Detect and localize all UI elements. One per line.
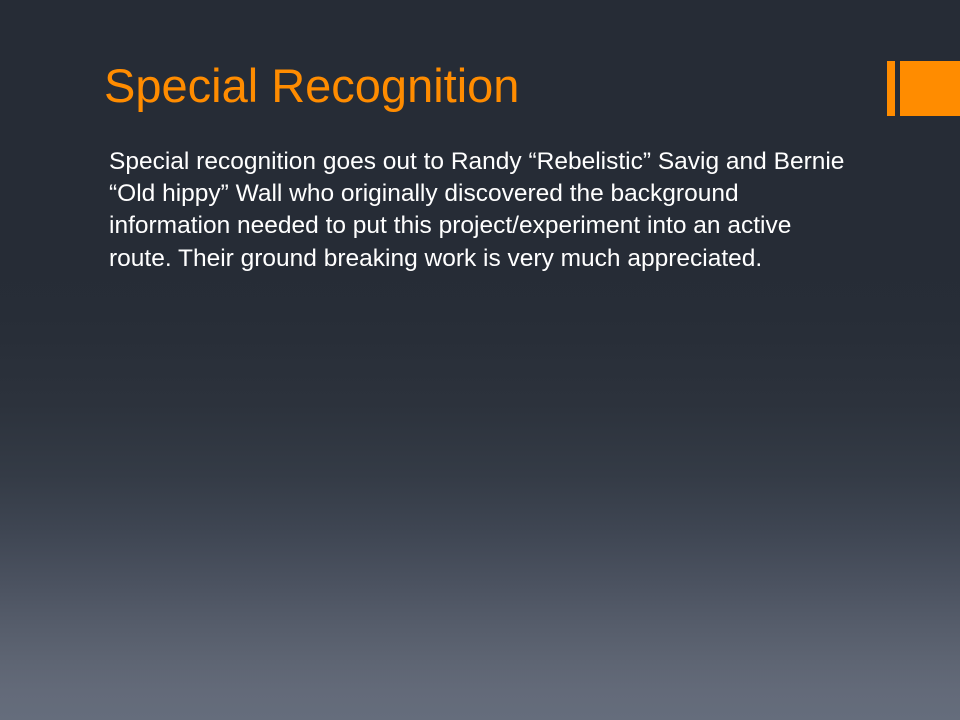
accent-bar-thin [887, 61, 895, 116]
accent-bar-block [900, 61, 960, 116]
slide-title: Special Recognition [104, 57, 864, 114]
orange-accent-decoration [887, 61, 960, 116]
slide-body-paragraph: Special recognition goes out to Randy “R… [109, 146, 851, 275]
slide-canvas: Special Recognition Special recognition … [0, 0, 960, 720]
